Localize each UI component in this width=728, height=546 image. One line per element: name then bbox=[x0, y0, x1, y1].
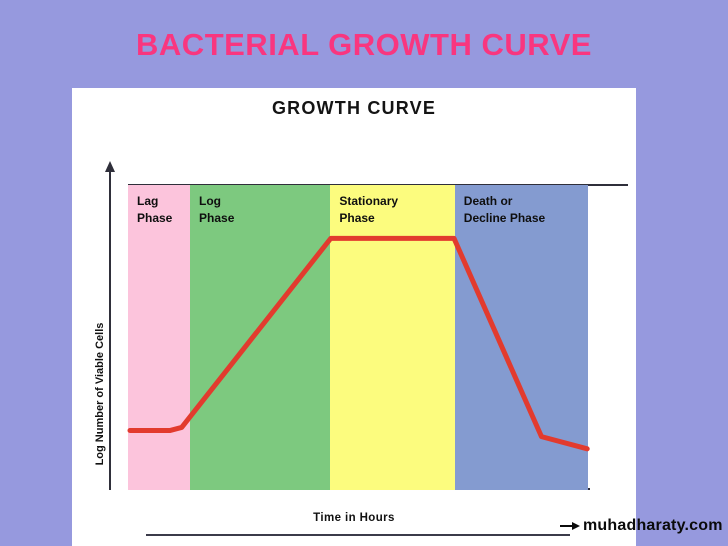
growth-curve-figure: GROWTH CURVE Log Number of Viable Cells … bbox=[72, 88, 636, 546]
growth-curve-line bbox=[128, 185, 588, 490]
watermark: muhadharaty.com bbox=[560, 517, 723, 535]
plot-area: Lag Phase Log Phase Stationary Phase Dea… bbox=[128, 185, 588, 490]
x-axis-label: Time in Hours bbox=[72, 512, 636, 524]
y-axis-label: Log Number of Viable Cells bbox=[94, 299, 106, 489]
arrow-right-icon bbox=[560, 519, 582, 533]
x-axis-rule bbox=[146, 534, 570, 536]
chart-title: GROWTH CURVE bbox=[72, 98, 636, 119]
watermark-text: muhadharaty.com bbox=[583, 517, 723, 535]
page-title: BACTERIAL GROWTH CURVE bbox=[0, 26, 728, 64]
